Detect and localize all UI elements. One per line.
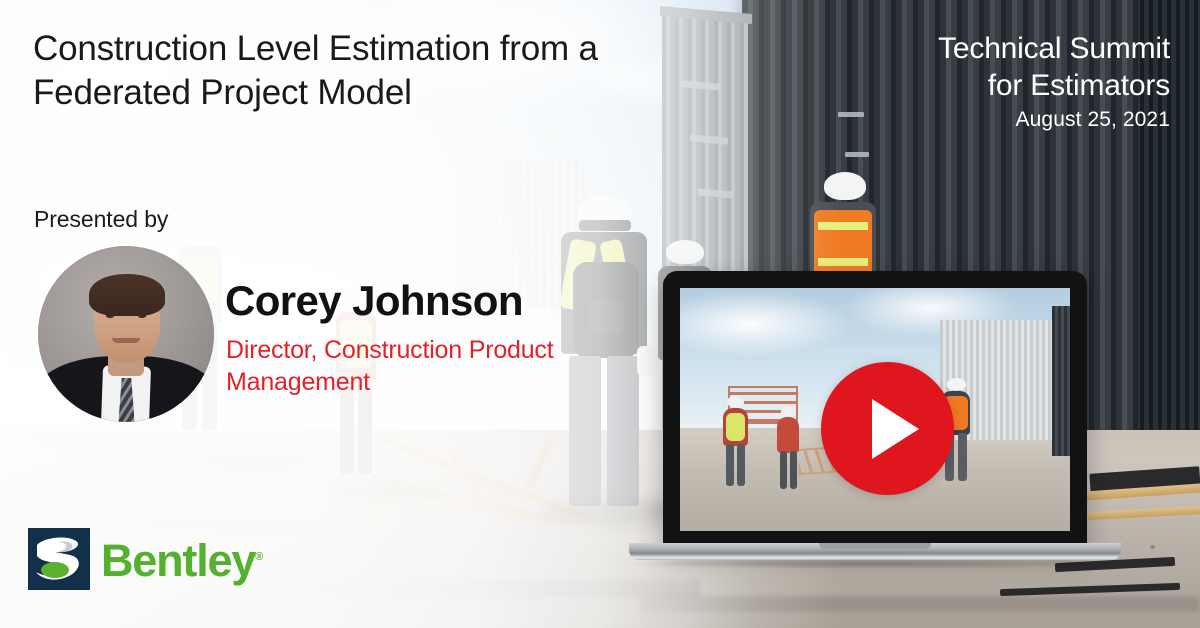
bentley-word-text: Bentley: [101, 535, 255, 586]
bentley-wordmark: Bentley®: [101, 538, 263, 583]
play-triangle-icon: [872, 399, 919, 459]
event-title-line2: for Estimators: [750, 67, 1170, 104]
laptop-mockup: [663, 271, 1087, 566]
avatar-eye: [138, 314, 146, 318]
laptop-lid: [663, 271, 1087, 547]
registered-mark: ®: [255, 551, 263, 563]
video-worker: [720, 396, 750, 486]
avatar-mouth: [112, 338, 140, 343]
bentley-logo[interactable]: Bentley®: [28, 528, 263, 590]
promo-card: Construction Level Estimation from a Fed…: [0, 0, 1200, 628]
avatar-hair: [89, 274, 165, 316]
avatar: [38, 246, 214, 422]
laptop-base: [629, 543, 1121, 560]
presented-by-label: Presented by: [34, 206, 168, 233]
speaker-role: Director, Construction Product Managemen…: [226, 334, 566, 398]
laptop-base-notch: [819, 543, 931, 549]
bentley-b-mark-icon: [28, 528, 90, 590]
content-layer: Construction Level Estimation from a Fed…: [0, 0, 1200, 628]
video-worker: [775, 406, 801, 490]
page-title: Construction Level Estimation from a Fed…: [33, 27, 633, 115]
avatar-eye: [106, 314, 114, 318]
video-building-dark: [1052, 306, 1070, 456]
event-date: August 25, 2021: [750, 106, 1170, 134]
speaker-name: Corey Johnson: [225, 277, 523, 325]
event-title-line1: Technical Summit: [750, 30, 1170, 67]
video-thumbnail[interactable]: [680, 288, 1070, 531]
event-block: Technical Summit for Estimators August 2…: [750, 30, 1170, 134]
play-button[interactable]: [821, 362, 954, 495]
laptop-shadow: [623, 559, 1127, 569]
